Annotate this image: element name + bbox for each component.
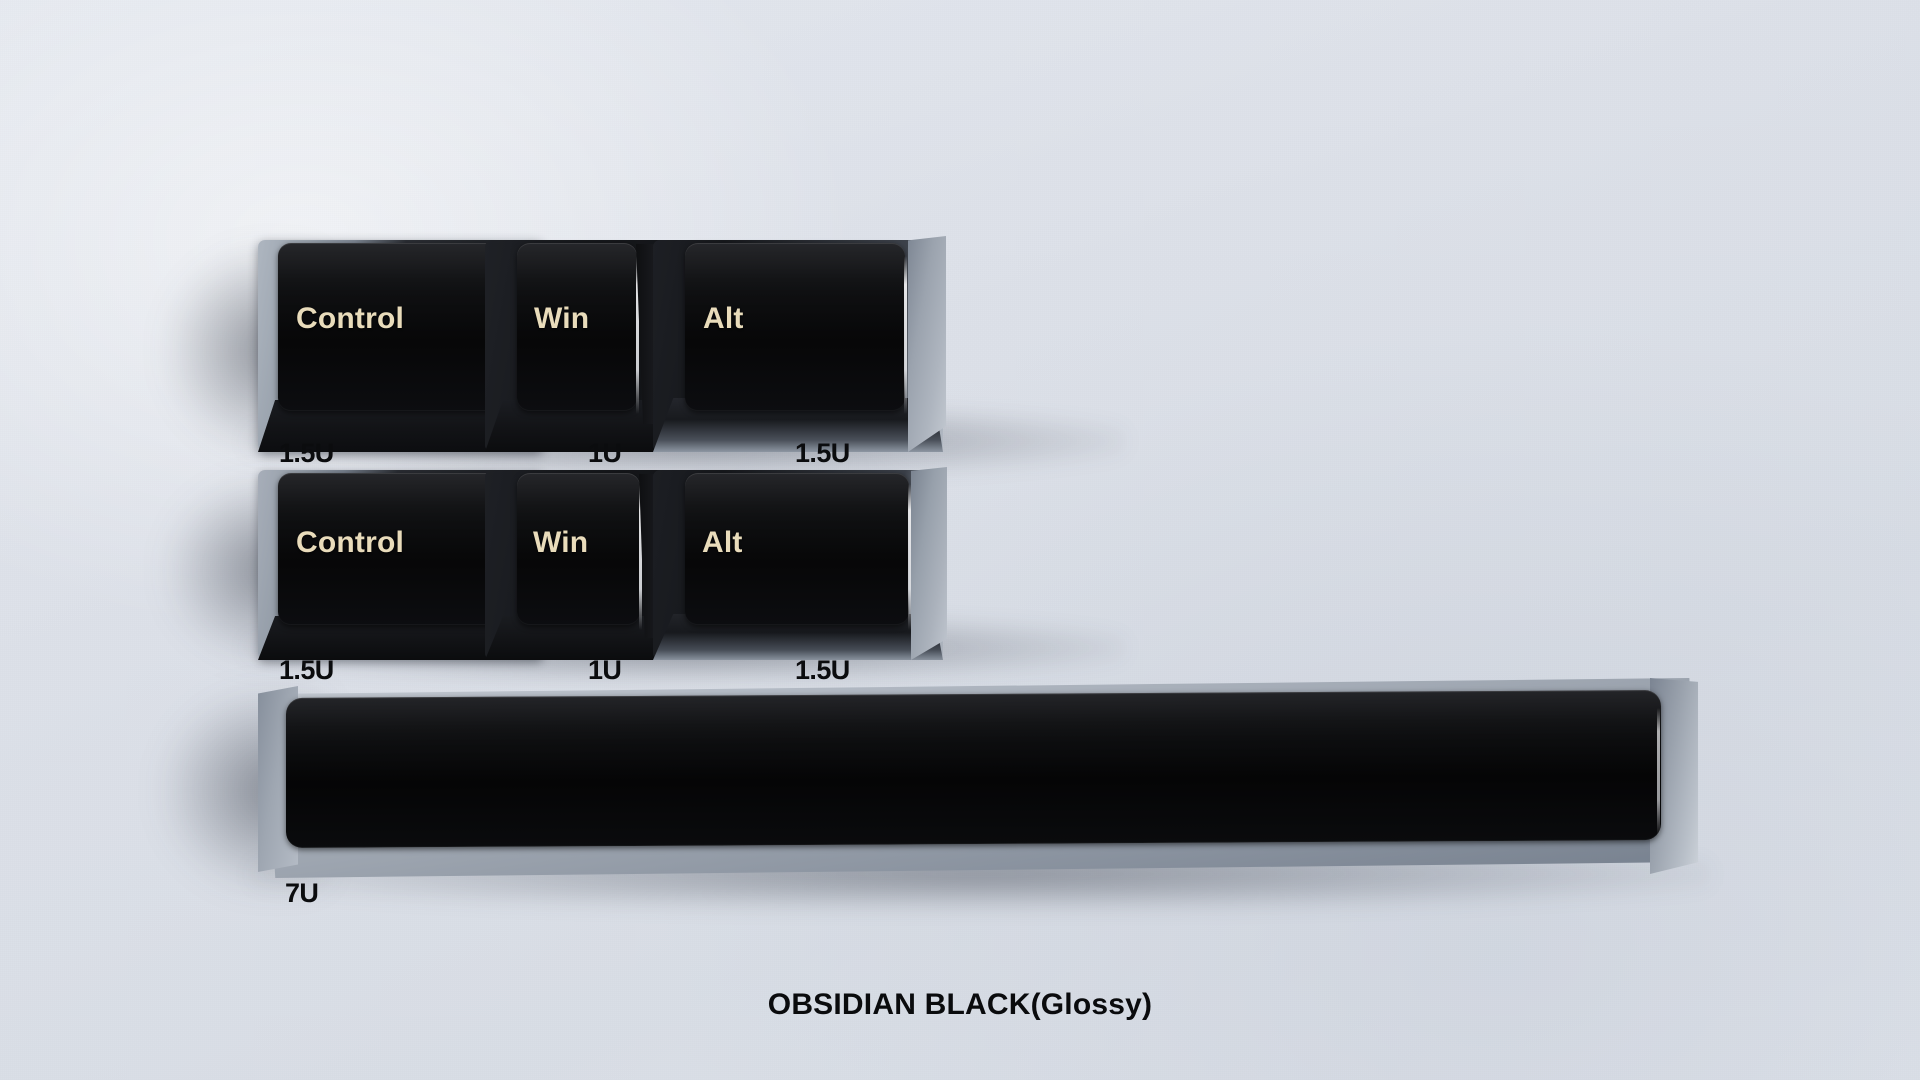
keycap-spacebar-7u[interactable] [258,678,1698,878]
keycap-r1-alt-edge-highlight [904,256,907,414]
keycap-row1-right-wall [908,236,946,452]
keycap-row2-right-wall [911,467,947,660]
keycap-row-2: Control Win Alt [258,470,1118,662]
product-render-canvas: Control Win Alt 1.5U 1U 1.5U [0,0,1920,1080]
size-label-r1-control: 1.5U [279,438,334,469]
keycap-r1-alt[interactable]: Alt [653,240,943,452]
keycap-r2-alt-legend: Alt [702,526,743,560]
spacebar-edge-highlight [1657,708,1660,836]
keycap-r2-alt[interactable]: Alt [653,470,943,660]
spacebar-top [286,690,1661,848]
size-label-r1-win: 1U [588,438,621,469]
keycap-row-1: Control Win Alt [258,240,1118,455]
keycap-r2-alt-edge-highlight [908,484,911,630]
colorway-caption: OBSIDIAN BLACK(Glossy) [0,988,1920,1022]
size-label-spacebar: 7U [285,878,318,909]
keycap-r1-win-legend: Win [534,302,589,336]
keycap-r2-control-legend: Control [296,526,404,560]
keycap-r1-control-legend: Control [296,302,404,336]
keycap-r1-alt-legend: Alt [703,302,744,336]
keycap-r2-win-legend: Win [533,526,588,560]
size-label-r1-alt: 1.5U [795,438,850,469]
